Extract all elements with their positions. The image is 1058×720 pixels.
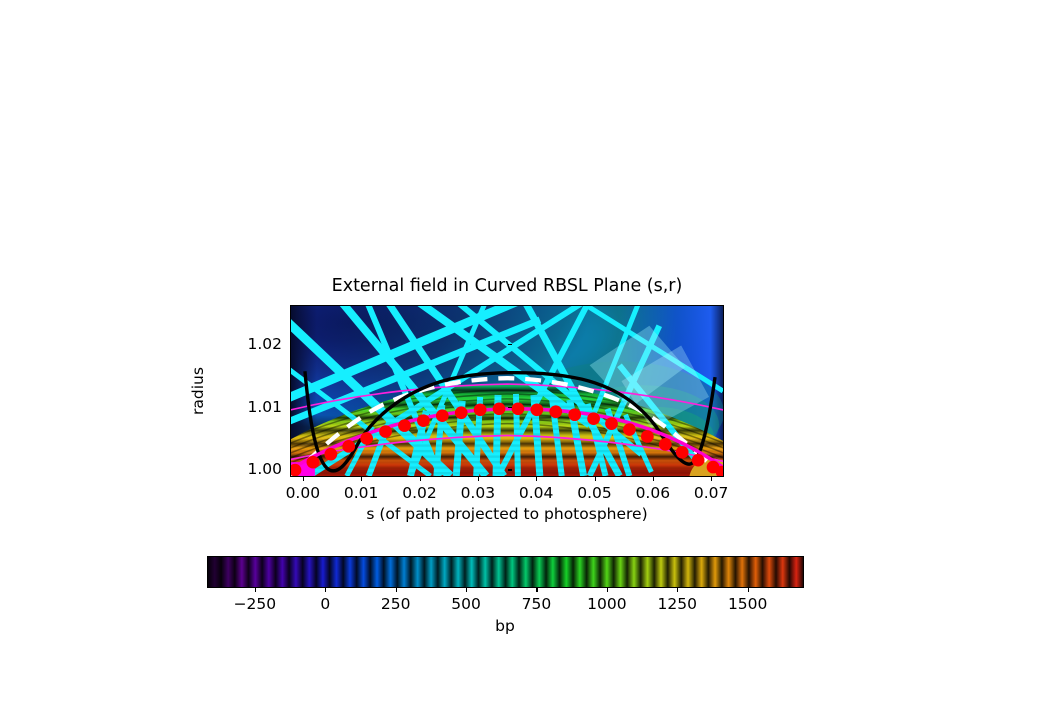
colorbar-label: bp bbox=[495, 617, 515, 635]
y-tick-label: 1.02 bbox=[222, 335, 282, 353]
y-tick-mark bbox=[508, 344, 512, 345]
x-tick-mark bbox=[653, 477, 654, 481]
colorbar-axes[interactable] bbox=[207, 556, 804, 588]
colorbar-tick-mark bbox=[325, 588, 326, 592]
colorbar-tick-label: 250 bbox=[381, 595, 411, 613]
y-tick-label: 1.01 bbox=[222, 398, 282, 416]
x-tick-label: 0.07 bbox=[694, 484, 729, 502]
colorbar-tick-label: 1000 bbox=[587, 595, 626, 613]
y-tick-label: 1.00 bbox=[222, 460, 282, 478]
y-tick-mark bbox=[508, 407, 512, 408]
x-tick-mark bbox=[303, 477, 304, 481]
x-tick-mark bbox=[595, 477, 596, 481]
x-axis-label: s (of path projected to photosphere) bbox=[366, 505, 647, 523]
colorbar-tick-label: 1250 bbox=[658, 595, 697, 613]
colorbar-tick-mark bbox=[466, 588, 467, 592]
x-tick-label: 0.02 bbox=[402, 484, 437, 502]
figure-canvas: External field in Curved RBSL Plane (s,r… bbox=[0, 0, 1058, 720]
y-tick-mark bbox=[508, 469, 512, 470]
x-axis-ticks: 0.000.010.020.030.040.050.060.07 bbox=[290, 477, 724, 507]
x-tick-mark bbox=[478, 477, 479, 481]
x-tick-label: 0.01 bbox=[344, 484, 379, 502]
colorbar-tick-mark bbox=[748, 588, 749, 592]
colorbar-tick-mark bbox=[607, 588, 608, 592]
colorbar-tick-mark bbox=[536, 588, 537, 592]
colorbar-tick-label: 0 bbox=[320, 595, 330, 613]
rope-axis-curve bbox=[291, 409, 723, 471]
y-axis-label: radius bbox=[189, 367, 207, 415]
x-tick-label: 0.03 bbox=[461, 484, 496, 502]
colorbar-tick-label: −250 bbox=[234, 595, 277, 613]
colorbar-tick-mark bbox=[255, 588, 256, 592]
colorbar-tick-label: 500 bbox=[451, 595, 481, 613]
rope-boundary-upper bbox=[291, 384, 723, 411]
x-tick-label: 0.06 bbox=[636, 484, 671, 502]
main-plot-axes[interactable]: rope axis average rope bp optimal bp (lo… bbox=[290, 305, 724, 477]
colorbar-tick-mark bbox=[677, 588, 678, 592]
x-tick-label: 0.00 bbox=[286, 484, 321, 502]
plot-title: External field in Curved RBSL Plane (s,r… bbox=[290, 276, 724, 296]
optimal-bp-curve bbox=[305, 371, 715, 471]
x-tick-label: 0.04 bbox=[519, 484, 554, 502]
colorbar-tick-label: 1500 bbox=[728, 595, 767, 613]
x-tick-mark bbox=[420, 477, 421, 481]
x-tick-mark bbox=[361, 477, 362, 481]
x-tick-label: 0.05 bbox=[577, 484, 612, 502]
plot-clip-region bbox=[291, 306, 723, 476]
colorbar-tick-mark bbox=[396, 588, 397, 592]
curve-overlay-layer bbox=[291, 306, 723, 476]
x-tick-mark bbox=[536, 477, 537, 481]
colorbar-ticks: −2500250500750100012501500 bbox=[207, 588, 804, 616]
y-axis-ticks: 1.001.011.02 bbox=[222, 305, 282, 477]
x-tick-mark bbox=[711, 477, 712, 481]
colorbar-gradient bbox=[208, 557, 803, 587]
colorbar-tick-label: 750 bbox=[522, 595, 552, 613]
